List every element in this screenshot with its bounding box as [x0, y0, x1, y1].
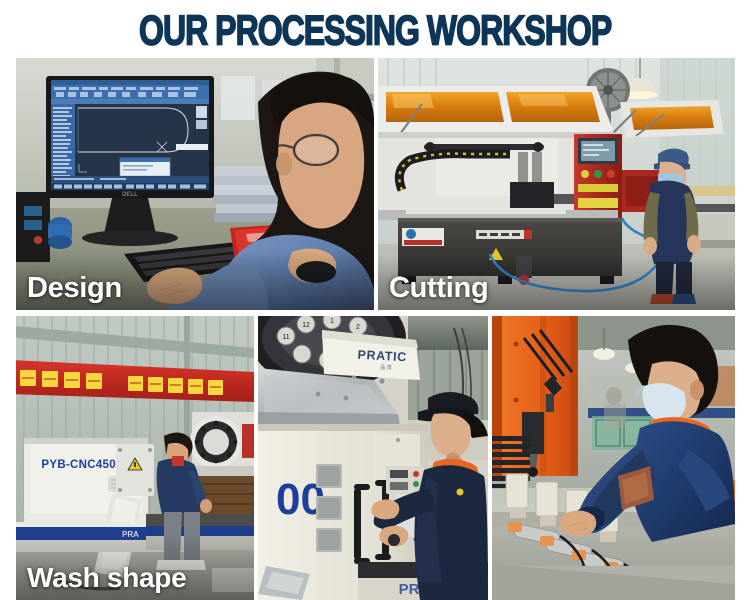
tile-caption-design: Design: [27, 272, 122, 304]
svg-text:11: 11: [282, 334, 289, 341]
workshop-gallery-page: OUR PROCESSING WORKSHOP: [0, 0, 750, 600]
svg-text:品 茂: 品 茂: [380, 364, 391, 371]
svg-text:12: 12: [302, 322, 310, 329]
assembly-photo: [492, 316, 735, 600]
page-title: OUR PROCESSING WORKSHOP: [139, 10, 611, 52]
svg-text:1: 1: [330, 318, 334, 325]
gallery-tile-milling[interactable]: 1112 12 PRATIC 品 茂: [258, 316, 488, 600]
svg-text:2: 2: [356, 324, 360, 331]
gallery-tile-design[interactable]: DELL: [16, 58, 374, 310]
tile-caption-cutting: Cutting: [389, 272, 488, 304]
gallery-row-bottom: PYB-CNC4500S: [16, 316, 735, 600]
svg-text:DELL: DELL: [122, 192, 138, 198]
page-title-bar: OUR PROCESSING WORKSHOP: [0, 10, 750, 52]
tile-caption-wash-shape: Wash shape: [27, 562, 186, 594]
wash-shape-photo: PYB-CNC4500S: [16, 316, 254, 600]
gallery-row-top: DELL: [16, 58, 735, 310]
milling-photo: 1112 12 PRATIC 品 茂: [258, 316, 488, 600]
gallery-tile-wash-shape[interactable]: PYB-CNC4500S: [16, 316, 254, 600]
gallery-tile-assembly[interactable]: [492, 316, 735, 600]
gallery-tile-cutting[interactable]: Cutting: [378, 58, 735, 310]
svg-text:PRATIC: PRATIC: [357, 348, 407, 365]
